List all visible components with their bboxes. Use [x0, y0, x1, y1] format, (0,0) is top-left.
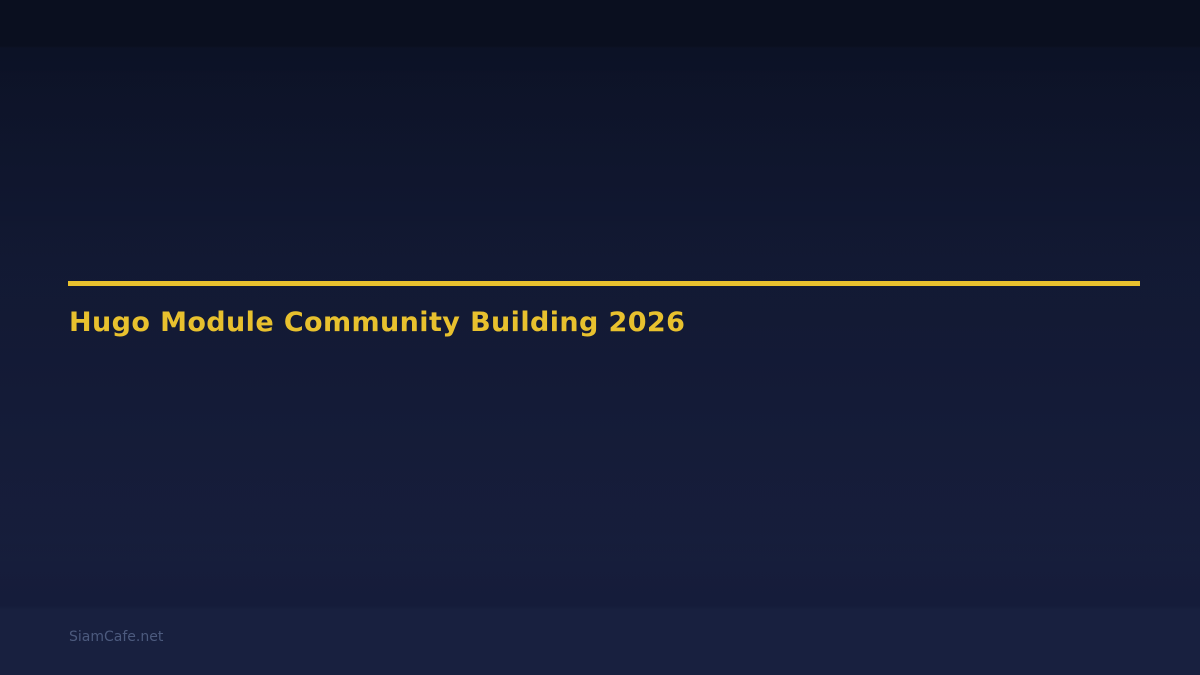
title-block: Hugo Module Community Building 2026: [68, 281, 1140, 286]
accent-rule: [68, 281, 1140, 286]
presentation-slide: Hugo Module Community Building 2026 Siam…: [0, 0, 1200, 675]
page-title: Hugo Module Community Building 2026: [69, 309, 685, 336]
footer-watermark: SiamCafe.net: [69, 630, 163, 644]
footer: SiamCafe.net: [69, 630, 163, 644]
